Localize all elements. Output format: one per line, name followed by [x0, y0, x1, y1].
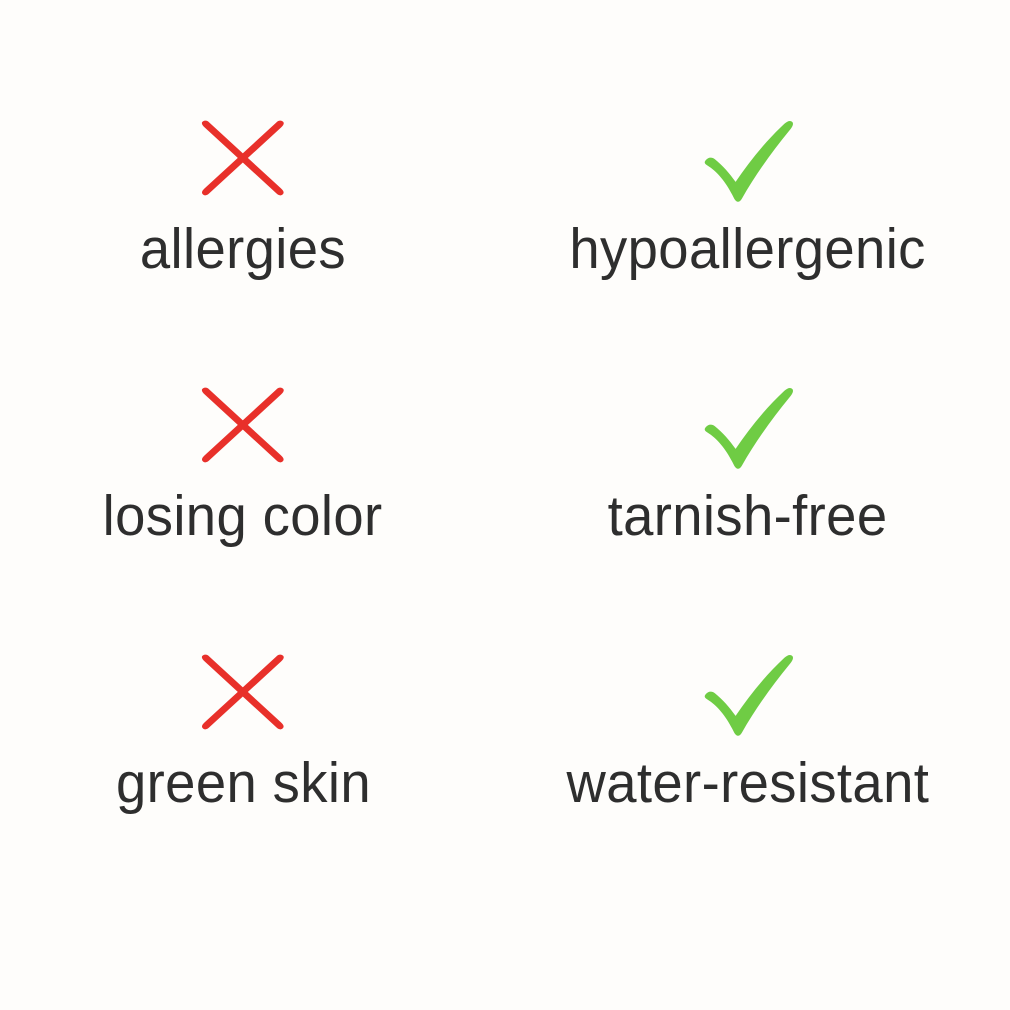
benefit-label-negative: losing color	[103, 485, 383, 549]
benefit-label-positive: water-resistant	[567, 752, 930, 816]
benefit-row: green skin water-resistant	[0, 644, 1010, 874]
benefit-label-negative: allergies	[140, 218, 346, 282]
benefit-label-positive: hypoallergenic	[570, 218, 926, 282]
benefit-cell-negative: green skin	[0, 644, 486, 874]
check-icon	[691, 377, 811, 473]
benefit-label-positive: tarnish-free	[608, 485, 888, 549]
benefit-label-negative: green skin	[116, 752, 371, 816]
check-icon	[691, 644, 811, 740]
benefit-cell-negative: allergies	[0, 110, 486, 340]
benefits-comparison-board: allergies hypoallergenic	[0, 0, 1010, 1010]
benefits-grid: allergies hypoallergenic	[0, 0, 1010, 1010]
benefit-row: allergies hypoallergenic	[0, 110, 1010, 340]
benefit-cell-positive: water-resistant	[486, 644, 1010, 874]
cross-icon	[185, 644, 305, 740]
benefit-cell-positive: hypoallergenic	[486, 110, 1010, 340]
benefit-cell-positive: tarnish-free	[486, 377, 1010, 607]
cross-icon	[185, 110, 305, 206]
cross-icon	[185, 377, 305, 473]
benefit-cell-negative: losing color	[0, 377, 486, 607]
benefit-row: losing color tarnish-free	[0, 377, 1010, 607]
check-icon	[691, 110, 811, 206]
